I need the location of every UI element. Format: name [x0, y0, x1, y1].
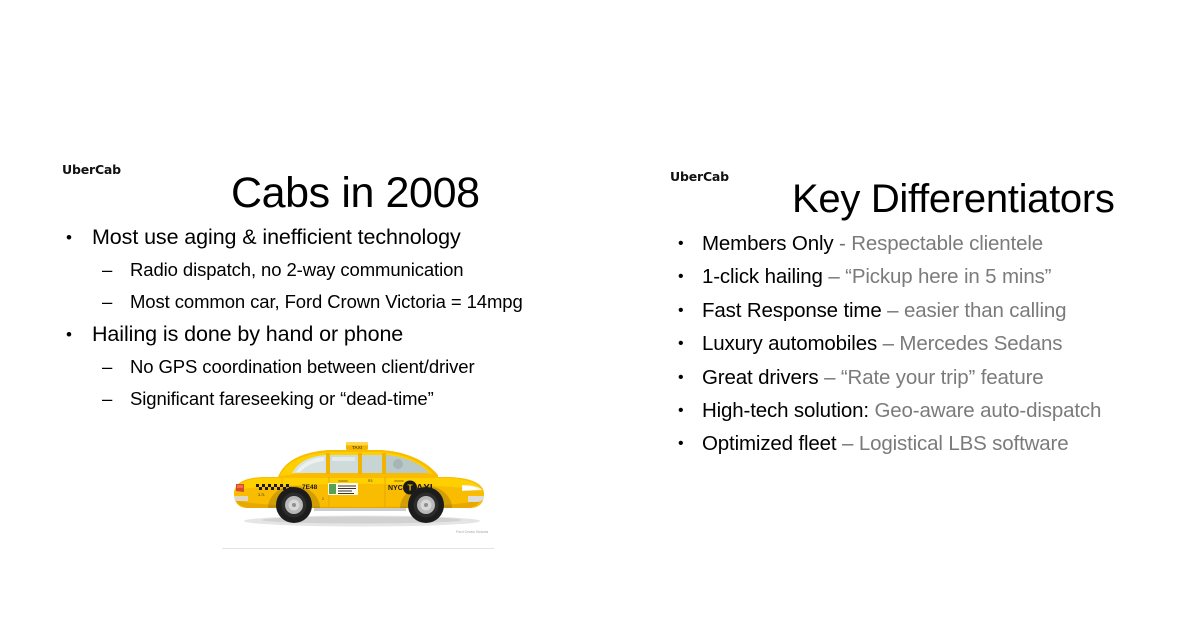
list-item-detail: Respectable clientele	[851, 232, 1043, 255]
list-item-separator: –	[823, 265, 845, 288]
page-title: Cabs in 2008	[231, 172, 480, 215]
bullet-marker-icon: •	[678, 427, 683, 460]
dash-marker-icon: –	[102, 254, 112, 286]
list-item: – Most common car, Ford Crown Victoria =…	[66, 286, 626, 318]
list-item-head: 1-click hailing	[702, 265, 823, 288]
svg-text:2: 2	[322, 497, 324, 501]
bullet-list-right: • Members Only - Respectable clientele •…	[678, 227, 1188, 461]
bullet-marker-icon: •	[678, 260, 683, 293]
list-item-label: Hailing is done by hand or phone	[92, 318, 403, 351]
list-item-detail: easier than calling	[904, 299, 1066, 322]
list-item: • Luxury automobiles – Mercedes Sedans	[678, 327, 1188, 360]
list-item-head: Fast Response time	[702, 299, 882, 322]
list-item-detail: “Pickup here in 5 mins”	[845, 265, 1051, 288]
list-item-head: Great drivers	[702, 366, 819, 389]
dash-marker-icon: –	[102, 351, 112, 383]
list-item-head: Optimized fleet	[702, 432, 836, 455]
list-item-detail: Geo-aware auto-dispatch	[874, 399, 1101, 422]
bullet-marker-icon: •	[678, 394, 683, 427]
list-item-label: No GPS coordination between client/drive…	[130, 351, 475, 383]
ubercab-logo: UberCab	[62, 162, 121, 177]
taxi-decal-nyc: NYC	[388, 485, 403, 492]
list-item-separator: –	[882, 299, 904, 322]
list-item-head: High-tech solution:	[702, 399, 869, 422]
list-item: • Most use aging & inefficient technolog…	[66, 221, 626, 254]
bullet-marker-icon: •	[66, 318, 72, 351]
list-item-separator: -	[833, 232, 851, 255]
list-item-label: Significant fareseeking or “dead-time”	[130, 383, 434, 415]
bullet-marker-icon: •	[66, 221, 72, 254]
list-item: • Fast Response time – easier than calli…	[678, 294, 1188, 327]
svg-text:R3: R3	[368, 479, 372, 483]
svg-text:3.7L: 3.7L	[258, 493, 265, 497]
list-item: • Optimized fleet – Logistical LBS softw…	[678, 427, 1188, 460]
list-item: – No GPS coordination between client/dri…	[66, 351, 626, 383]
list-item: • Hailing is done by hand or phone	[66, 318, 626, 351]
slide-cabs-in-2008: UberCab Cabs in 2008 • Most use aging & …	[0, 0, 630, 627]
bullet-list-left: • Most use aging & inefficient technolog…	[66, 221, 626, 415]
list-item-head: Luxury automobiles	[702, 332, 877, 355]
list-item: – Radio dispatch, no 2-way communication	[66, 254, 626, 286]
list-item-label: Most common car, Ford Crown Victoria = 1…	[130, 286, 523, 318]
list-item-detail: “Rate your trip” feature	[841, 366, 1044, 389]
list-item-separator: –	[877, 332, 899, 355]
bullet-marker-icon: •	[678, 327, 683, 360]
list-item-detail: Mercedes Sedans	[899, 332, 1062, 355]
dash-marker-icon: –	[102, 286, 112, 318]
slide-key-differentiators: UberCab Key Differentiators • Members On…	[630, 0, 1200, 627]
list-item: • Members Only - Respectable clientele	[678, 227, 1188, 260]
dash-marker-icon: –	[102, 383, 112, 415]
list-item-separator: –	[836, 432, 858, 455]
image-caption: Ford Crown Victoria	[456, 530, 488, 534]
list-item-detail: Logistical LBS software	[859, 432, 1069, 455]
bullet-marker-icon: •	[678, 294, 683, 327]
bullet-marker-icon: •	[678, 361, 683, 394]
taxi-illustration-icon: TAXI 7E48 3.7L 5.20	[222, 428, 494, 547]
list-item: • 1-click hailing – “Pickup here in 5 mi…	[678, 260, 1188, 293]
list-item: • Great drivers – “Rate your trip” featu…	[678, 361, 1188, 394]
list-item-head: Members Only	[702, 232, 833, 255]
svg-text:TAXI: TAXI	[352, 445, 362, 450]
taxi-image: TAXI 7E48 3.7L 5.20	[222, 428, 494, 549]
list-item: – Significant fareseeking or “dead-time”	[66, 383, 626, 415]
list-item-label: Most use aging & inefficient technology	[92, 221, 461, 254]
list-item-separator: –	[819, 366, 841, 389]
list-item-label: Radio dispatch, no 2-way communication	[130, 254, 463, 286]
page-title: Key Differentiators	[792, 179, 1115, 219]
bullet-marker-icon: •	[678, 227, 683, 260]
list-item: • High-tech solution: Geo-aware auto-dis…	[678, 394, 1188, 427]
ubercab-logo: UberCab	[670, 169, 729, 184]
